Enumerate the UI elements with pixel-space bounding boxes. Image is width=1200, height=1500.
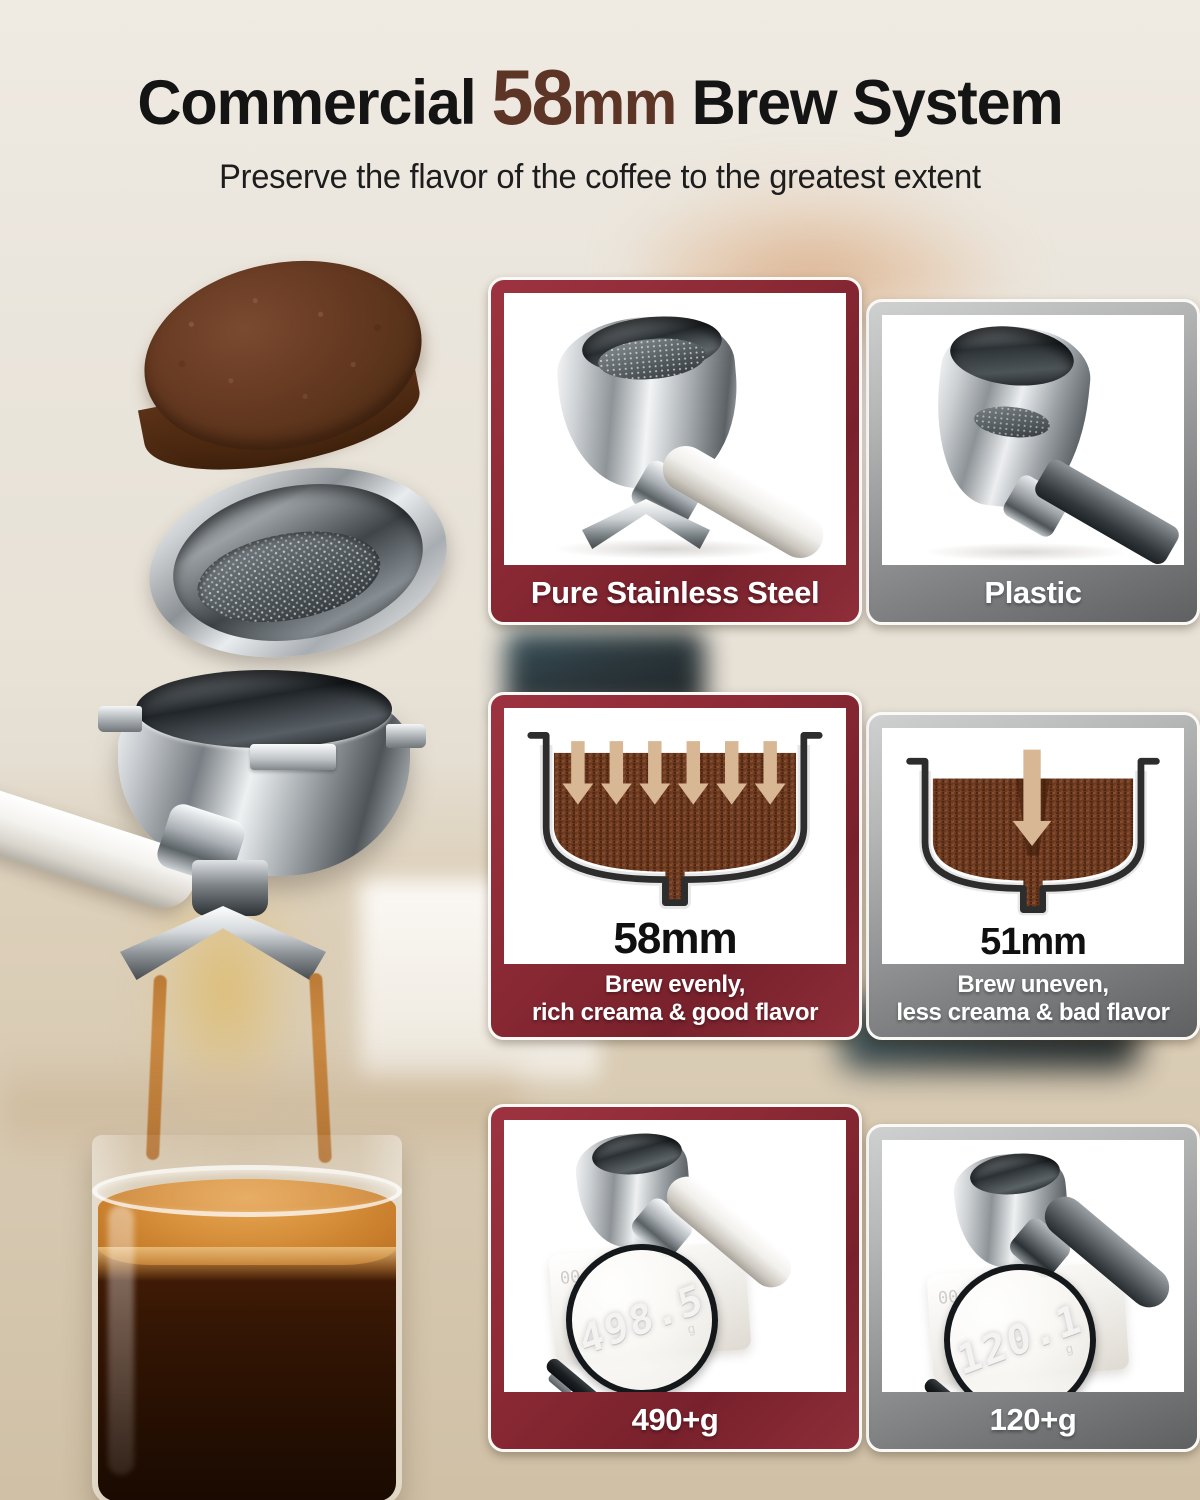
comparison-panels: Pure Stainless Steel Plastic [0,0,1200,1500]
panel-weight-120g: 00 120.1 g 120+g [866,1124,1200,1452]
panel-label-plastic: Plastic [882,565,1184,622]
panel-label-490g: 490+g [504,1392,846,1449]
panel-label-120g: 120+g [882,1392,1184,1449]
drop-shadow [556,539,776,559]
product-feature-image: Commercial 58mm Brew System Preserve the… [0,0,1200,1500]
panel-photo-weight-120g: 00 120.1 g [882,1140,1184,1392]
panel-weight-490g: 00 498.5 g 490+g [488,1104,862,1452]
diagram-size-label-58mm: 58mm [613,914,736,964]
basket-diagram-51mm-svg [899,740,1167,919]
diagram-size-label-51mm: 51mm [980,921,1086,964]
basket-diagram-58mm-svg [515,720,835,912]
panel-diagram-58mm: 58mm [504,708,846,964]
plastic-portafilter-illustration [882,315,1184,565]
panel-pure-stainless-steel: Pure Stainless Steel [488,277,862,625]
basket-cross-section-58mm: 58mm [504,708,846,964]
stainless-steel-portafilter-illustration [504,293,846,565]
panel-label-brew-uneven: Brew uneven, less creama & bad flavor [882,964,1184,1037]
panel-photo-stainless-steel [504,293,846,565]
panel-label-pure-stainless-steel: Pure Stainless Steel [504,565,846,622]
drop-shadow [926,543,1126,561]
panel-58mm-basket: 58mm Brew evenly, rich creama & good fla… [488,692,862,1040]
panel-photo-weight-490g: 00 498.5 g [504,1120,846,1392]
basket-cross-section-51mm: 51mm [882,728,1184,964]
panel-51mm-basket: 51mm Brew uneven, less creama & bad flav… [866,712,1200,1040]
portafilter-on-scale-illustration: 00 498.5 g [504,1120,846,1392]
panel-label-brew-evenly: Brew evenly, rich creama & good flavor [504,964,846,1037]
plastic-portafilter-on-scale-illustration: 00 120.1 g [882,1140,1184,1392]
panel-plastic: Plastic [866,299,1200,625]
panel-photo-plastic [882,315,1184,565]
panel-diagram-51mm: 51mm [882,728,1184,964]
